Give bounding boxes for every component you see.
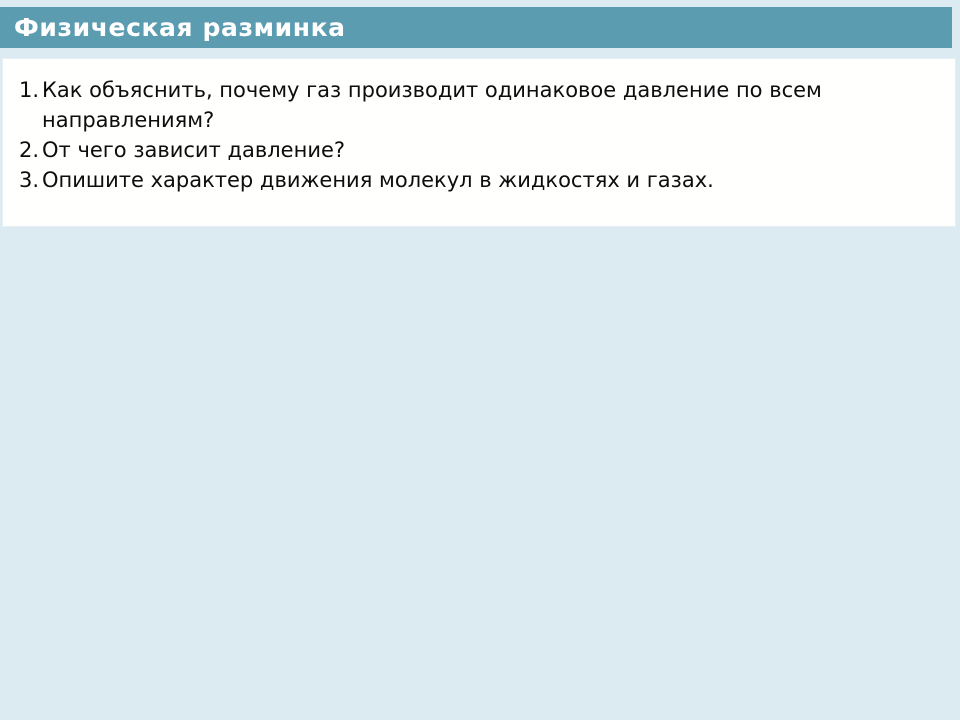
slide-title-bar: Физическая разминка [0,7,952,48]
list-item-number: 2. [3,135,42,165]
list-item-number: 3. [3,165,42,195]
list-item-text: От чего зависит давление? [42,135,948,165]
list-item-text: Как объяснить, почему газ производит оди… [42,75,948,135]
page-title: Физическая разминка [0,15,346,40]
content-panel: 1. Как объяснить, почему газ производит … [2,58,956,227]
list-item: 3. Опишите характер движения молекул в ж… [3,165,955,195]
list-item-number: 1. [3,75,42,105]
list-item-text: Опишите характер движения молекул в жидк… [42,165,948,195]
list-item: 1. Как объяснить, почему газ производит … [3,75,955,135]
list-item: 2. От чего зависит давление? [3,135,955,165]
question-list: 1. Как объяснить, почему газ производит … [3,59,955,195]
slide-canvas: Физическая разминка 1. Как объяснить, по… [0,0,960,720]
